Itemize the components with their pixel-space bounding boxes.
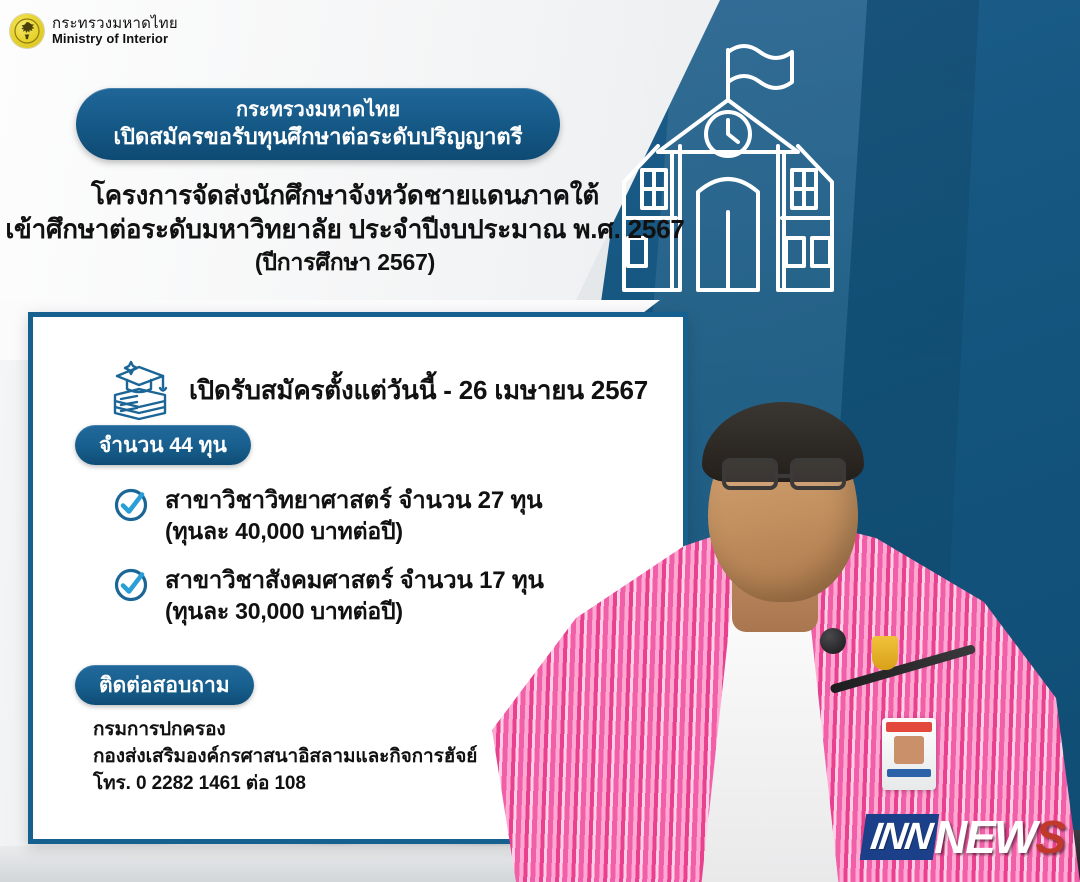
photo-lapel-pin (872, 636, 898, 670)
contact-details: กรมการปกครอง กองส่งเสริมองค์กรศาสนาอิสลา… (93, 717, 477, 798)
photo-id-badge-name (887, 769, 931, 777)
contact-line-phone: โทร. 0 2282 1461 ต่อ 108 (93, 771, 477, 798)
ministry-name-th: กระทรวงมหาดไทย (52, 16, 178, 33)
photo-id-badge (882, 718, 936, 790)
ministry-name-en: Ministry of Interior (52, 32, 178, 46)
garuda-seal-icon (10, 14, 44, 48)
graduation-books-icon (107, 355, 171, 426)
news-wordmark-prefix: NEW (934, 811, 1035, 863)
headline-banner-line1: กระทรวงมหาดไทย (236, 98, 400, 123)
page-title-line1: โครงการจัดส่งนักศึกษาจังหวัดชายแดนภาคใต้ (0, 178, 690, 212)
ministry-logo-text: กระทรวงมหาดไทย Ministry of Interior (52, 16, 178, 47)
poster-root: กระทรวงมหาดไทย Ministry of Interior (0, 0, 1080, 882)
page-title-line2: เข้าศึกษาต่อระดับมหาวิทยาลัย ประจำปีงบปร… (0, 212, 690, 246)
contact-line-division: กองส่งเสริมองค์กรศาสนาอิสลามและกิจการฮัจ… (93, 744, 477, 771)
speaker-photo (480, 262, 1080, 882)
photo-eyeglass-left (722, 458, 778, 490)
photo-id-badge-photo (894, 736, 924, 764)
photo-eyeglass-right (790, 458, 846, 490)
inn-news-watermark: INN NEWS (863, 814, 1064, 860)
photo-microphone-head (820, 628, 846, 654)
photo-eyeglass-bridge (778, 474, 790, 478)
news-wordmark: NEWS (934, 814, 1064, 860)
check-circle-icon (113, 567, 149, 608)
ministry-logo: กระทรวงมหาดไทย Ministry of Interior (10, 14, 178, 48)
photo-id-badge-strip (886, 722, 932, 732)
scholarship-count-badge: จำนวน 44 ทุน (75, 425, 251, 465)
check-circle-icon (113, 487, 149, 528)
headline-banner-line2: เปิดสมัครขอรับทุนศึกษาต่อระดับปริญญาตรี (113, 123, 522, 151)
contact-line-department: กรมการปกครอง (93, 717, 477, 744)
inn-logo-badge: INN (859, 814, 939, 860)
news-wordmark-suffix: S (1035, 811, 1064, 863)
contact-badge: ติดต่อสอบถาม (75, 665, 254, 705)
headline-banner: กระทรวงมหาดไทย เปิดสมัครขอรับทุนศึกษาต่อ… (76, 88, 560, 160)
